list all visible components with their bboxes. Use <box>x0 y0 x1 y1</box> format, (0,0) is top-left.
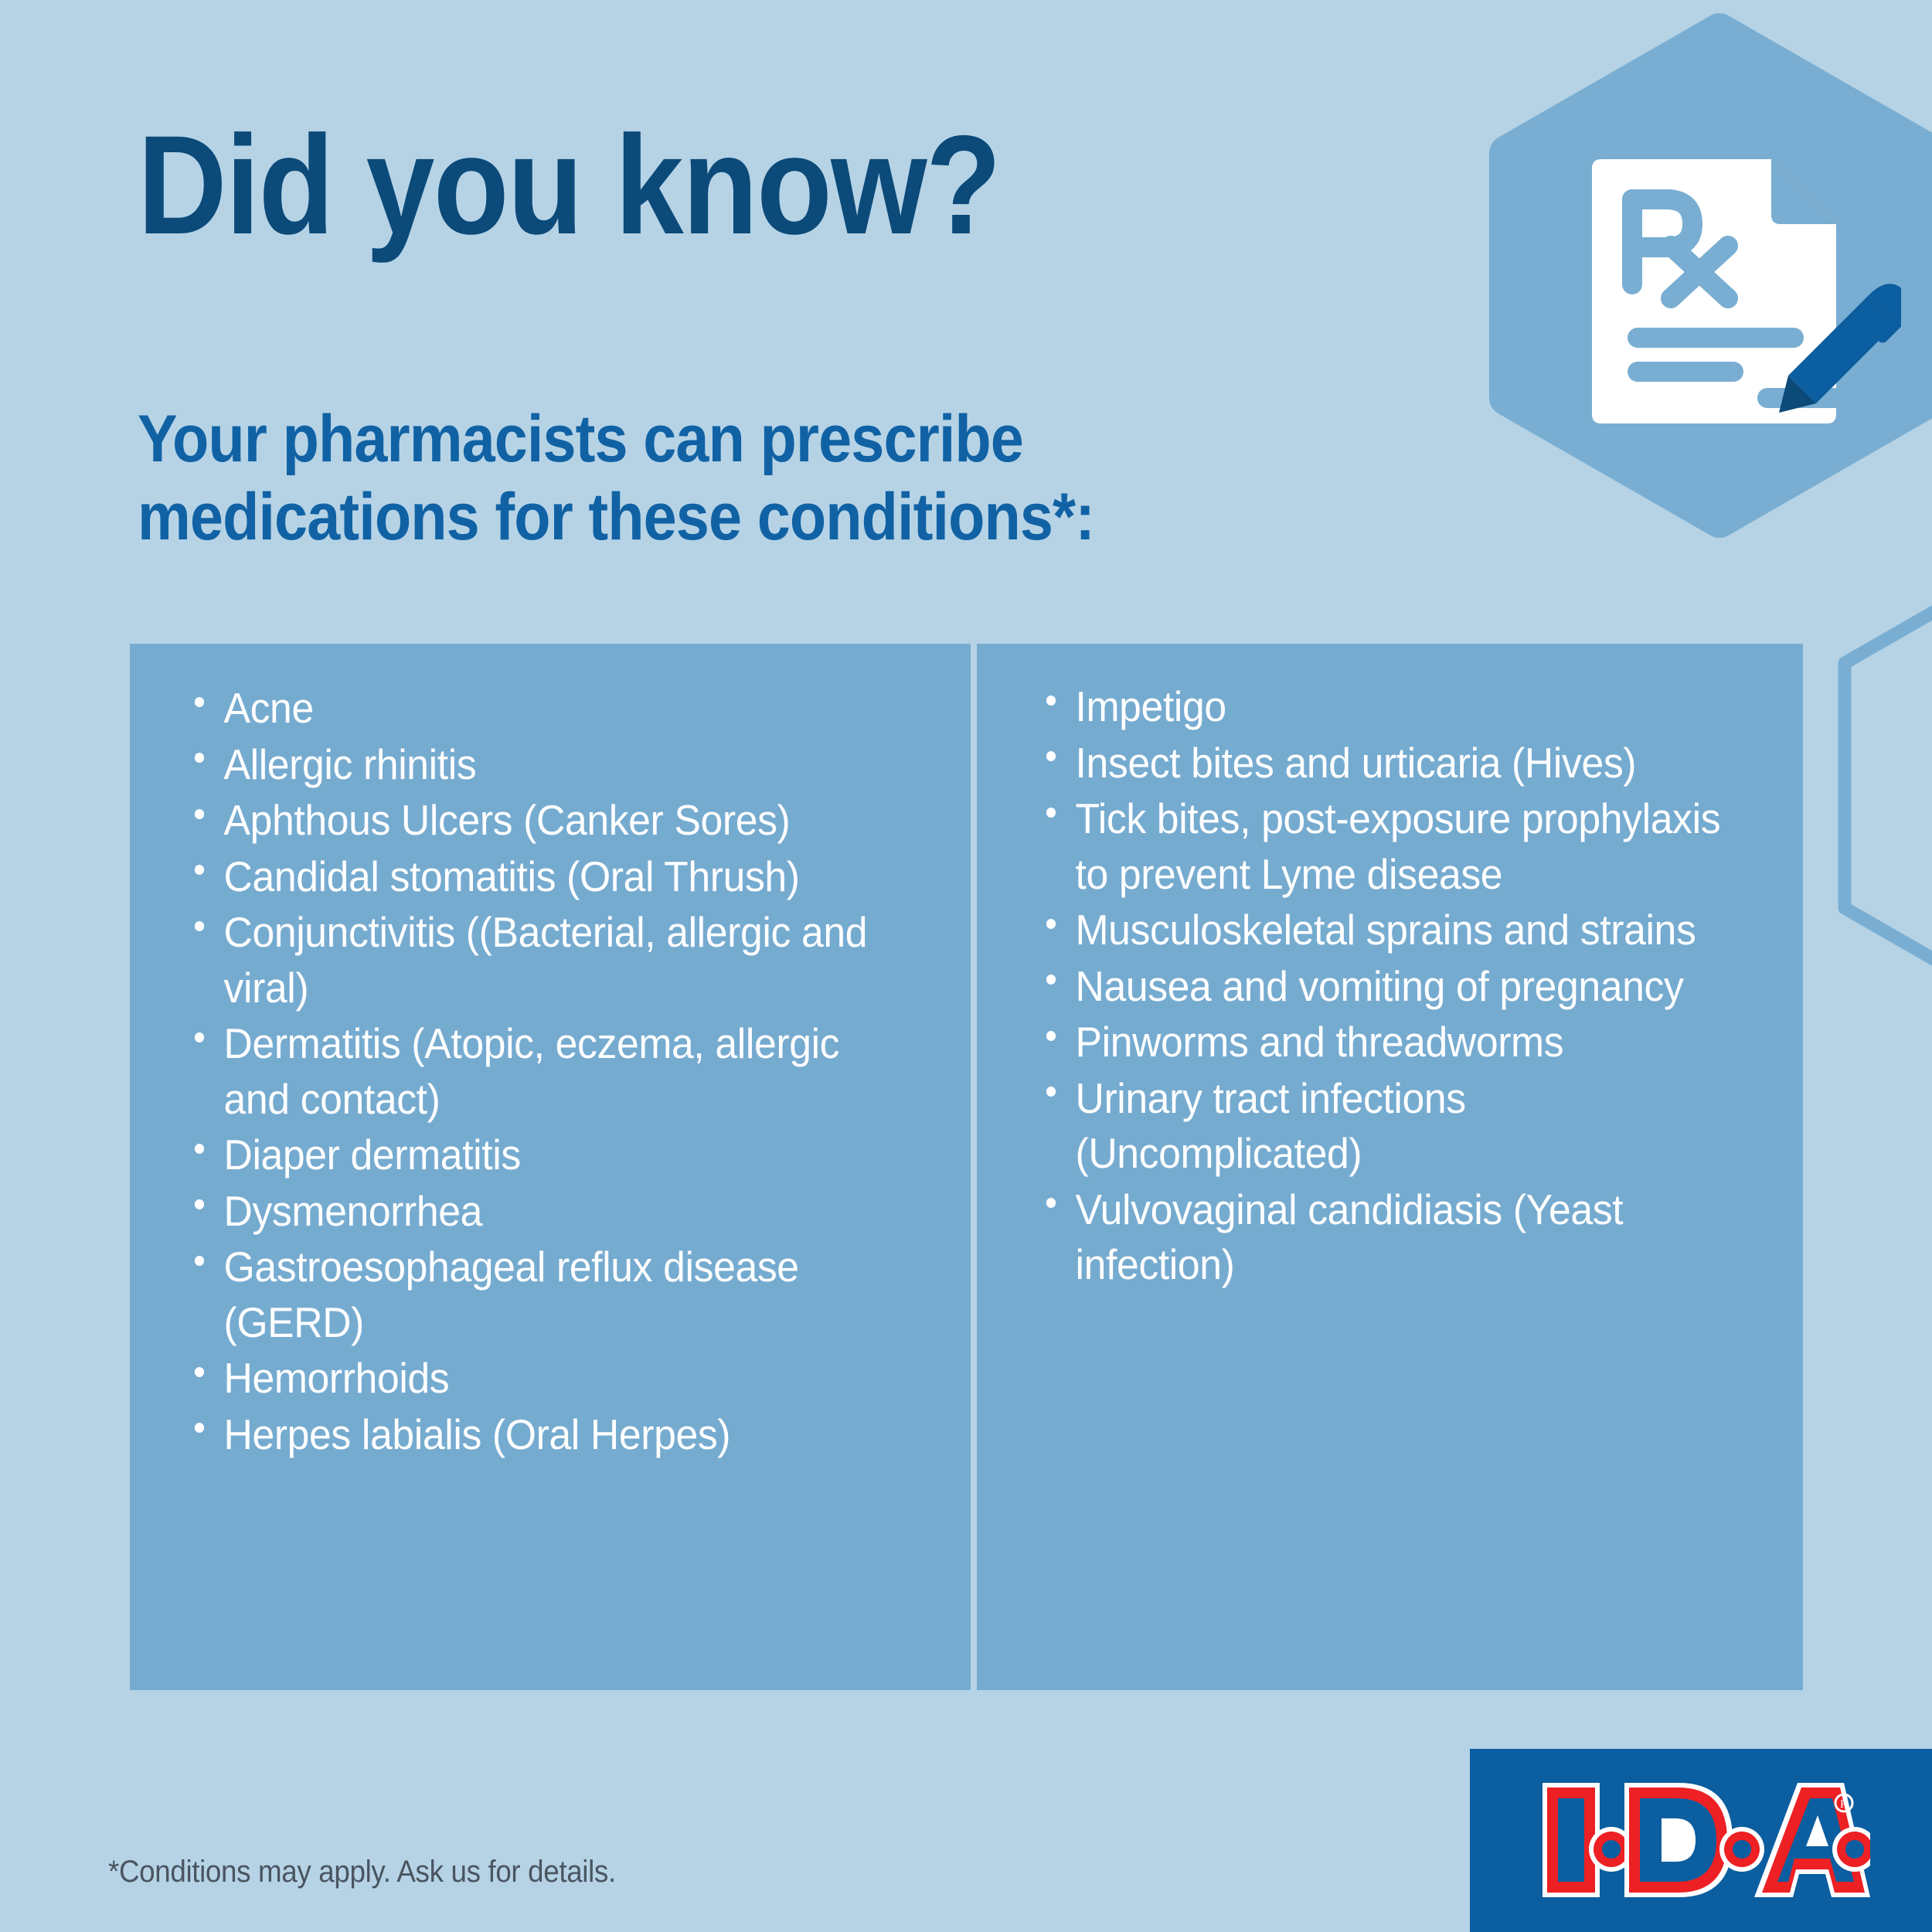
list-item: Nausea and vomiting of pregnancy <box>1045 959 1739 1015</box>
footnote-text: *Conditions may apply. Ask us for detail… <box>108 1855 616 1889</box>
list-item-label: Musculoskeletal sprains and strains <box>1075 906 1696 954</box>
subtitle-line-1: Your pharmacists can prescribe <box>138 400 1094 478</box>
list-item-label: Allergic rhinitis <box>223 740 476 788</box>
page-subtitle: Your pharmacists can prescribe medicatio… <box>138 400 1094 557</box>
bullet-icon <box>195 1199 204 1209</box>
list-item: Acne <box>193 681 895 736</box>
bullet-icon <box>1046 751 1056 761</box>
conditions-panel-left: Acne Allergic rhinitis Aphthous Ulcers (… <box>130 644 971 1690</box>
list-item-label: Nausea and vomiting of pregnancy <box>1075 962 1683 1010</box>
conditions-list-right: Impetigo Insect bites and urticaria (Hiv… <box>977 644 1803 1293</box>
bullet-icon <box>195 1032 204 1043</box>
list-item: Urinary tract infections (Uncomplicated) <box>1045 1071 1739 1182</box>
bullet-icon <box>1046 1031 1056 1041</box>
bullet-icon <box>1046 1198 1056 1208</box>
page-title: Did you know? <box>138 114 1000 255</box>
document-text-line-2 <box>1628 362 1743 382</box>
list-item: Insect bites and urticaria (Hives) <box>1045 736 1739 791</box>
list-item-label: Diaper dermatitis <box>223 1131 520 1179</box>
conditions-panel-right: Impetigo Insect bites and urticaria (Hiv… <box>977 644 1803 1690</box>
bullet-icon <box>1046 919 1056 929</box>
document-text-line-1 <box>1628 328 1804 348</box>
bullet-icon <box>1046 1087 1056 1097</box>
bullet-icon <box>195 1367 204 1377</box>
list-item-label: Dermatitis (Atopic, eczema, allergic and… <box>223 1019 839 1123</box>
list-item: Dermatitis (Atopic, eczema, allergic and… <box>193 1016 895 1127</box>
list-item-label: Acne <box>223 684 313 732</box>
bullet-icon <box>195 865 204 875</box>
bullet-icon <box>195 1256 204 1266</box>
bullet-icon <box>195 921 204 931</box>
svg-text:R: R <box>1840 1798 1848 1811</box>
bullet-icon <box>195 697 204 707</box>
list-item-label: Insect bites and urticaria (Hives) <box>1075 739 1636 787</box>
list-item-label: Tick bites, post-exposure prophylaxis to… <box>1075 794 1720 898</box>
list-item-label: Vulvovaginal candidiasis (Yeast infectio… <box>1075 1185 1623 1289</box>
list-item: Allergic rhinitis <box>193 737 895 793</box>
list-item: Herpes labialis (Oral Herpes) <box>193 1407 895 1463</box>
list-item-label: Impetigo <box>1075 682 1226 730</box>
logo-letters <box>1543 1783 1870 1897</box>
list-item: Conjunctivitis ((Bacterial, allergic and… <box>193 905 895 1015</box>
bullet-icon <box>1046 975 1056 985</box>
bullet-icon <box>195 809 204 819</box>
ida-logo-block: R <box>1470 1749 1932 1932</box>
bullet-icon <box>195 1423 204 1433</box>
bullet-icon <box>1046 808 1056 818</box>
subtitle-line-2: medications for these conditions*: <box>138 478 1094 556</box>
bullet-icon <box>1046 696 1056 706</box>
list-item: Vulvovaginal candidiasis (Yeast infectio… <box>1045 1182 1739 1293</box>
list-item-label: Candidal stomatitis (Oral Thrush) <box>223 852 799 900</box>
list-item: Pinworms and threadworms <box>1045 1015 1739 1070</box>
list-item: Hemorrhoids <box>193 1351 895 1406</box>
bullet-icon <box>195 753 204 763</box>
list-item: Diaper dermatitis <box>193 1128 895 1183</box>
document-folded-corner <box>1771 159 1836 224</box>
list-item-label: Aphthous Ulcers (Canker Sores) <box>223 796 790 844</box>
list-item-label: Conjunctivitis ((Bacterial, allergic and… <box>223 908 867 1012</box>
list-item: Dysmenorrhea <box>193 1184 895 1240</box>
hexagon-outline <box>1845 541 1932 1030</box>
list-item: Gastroesophageal reflux disease (GERD) <box>193 1240 895 1350</box>
list-item-label: Dysmenorrhea <box>223 1187 482 1235</box>
prescription-document-with-pen-icon <box>1577 155 1901 479</box>
list-item-label: Urinary tract infections (Uncomplicated) <box>1075 1074 1465 1178</box>
ida-logo-mark: R <box>1538 1778 1870 1902</box>
conditions-list-left: Acne Allergic rhinitis Aphthous Ulcers (… <box>130 644 971 1462</box>
list-item: Musculoskeletal sprains and strains <box>1045 903 1739 958</box>
infographic-poster: Did you know? Your pharmacists can presc… <box>0 0 1932 1932</box>
list-item: Candidal stomatitis (Oral Thrush) <box>193 849 895 905</box>
list-item: Tick bites, post-exposure prophylaxis to… <box>1045 791 1739 902</box>
list-item: Aphthous Ulcers (Canker Sores) <box>193 793 895 849</box>
list-item-label: Pinworms and threadworms <box>1075 1018 1563 1066</box>
list-item-label: Gastroesophageal reflux disease (GERD) <box>223 1243 798 1346</box>
bullet-icon <box>195 1144 204 1154</box>
list-item-label: Hemorrhoids <box>223 1354 449 1402</box>
list-item: Impetigo <box>1045 679 1739 735</box>
list-item-label: Herpes labialis (Oral Herpes) <box>223 1410 730 1458</box>
